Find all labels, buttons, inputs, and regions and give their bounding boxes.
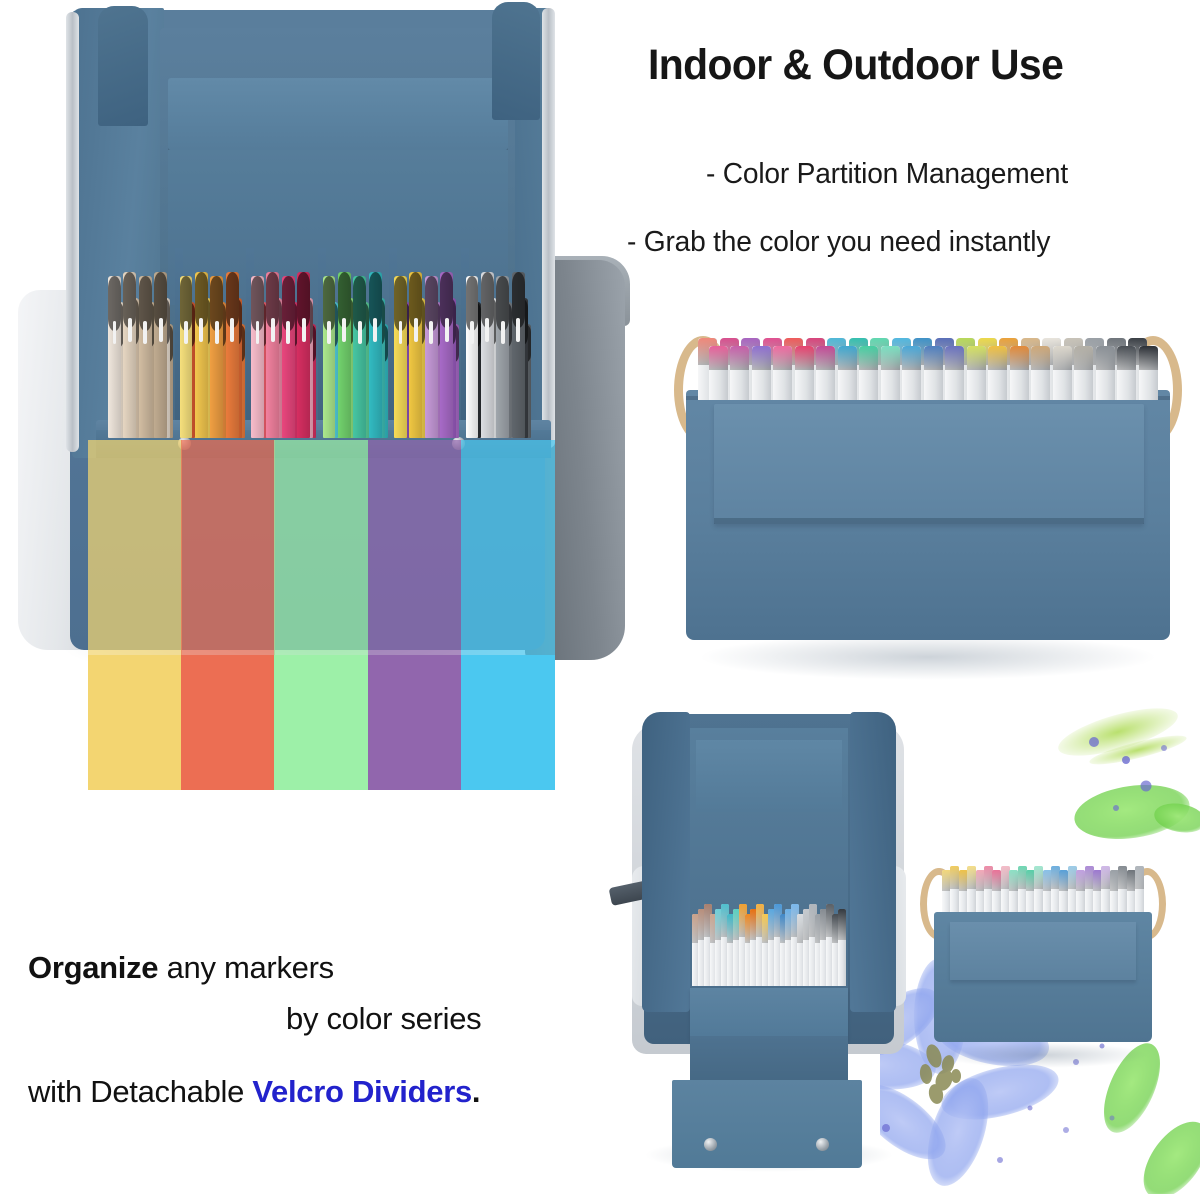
case-pocket-edge [714,518,1144,524]
divider-band-coral [181,440,275,790]
marker-pink-red [297,272,310,438]
organize-line-3-period: . [472,1074,480,1109]
marker-cap [1117,346,1136,370]
marker-warm [180,276,193,438]
marker-green [338,272,351,438]
marker-yellow-purple [440,272,453,438]
marker-cap [709,346,728,370]
marker [1074,346,1093,400]
band-overlay [368,440,462,655]
marker-cap [838,346,857,370]
marker [992,870,1001,916]
marker [773,346,792,400]
marker-cap [1076,870,1085,891]
marker [924,346,943,400]
marker-yellow-purple [409,272,422,438]
marker-cap [816,346,835,370]
marker [967,866,976,916]
organize-emphasis: Organize [28,950,158,985]
page-title: Indoor & Outdoor Use [648,43,1161,88]
zipper-pull-left [98,6,148,126]
band-solid [181,655,275,790]
feature-bullet-2: - Grab the color you need instantly [627,226,1050,259]
marker-row [698,336,1158,400]
marker-gray-black [466,276,479,438]
divider-band-purple [368,440,462,790]
marker-cap [1074,346,1093,370]
marker-label [113,321,117,344]
marker-cap [752,346,771,370]
marker [881,346,900,400]
marker [1009,870,1018,916]
marker-cap [838,909,846,940]
marker [1117,346,1136,400]
organize-line-3-prefix: with Detachable [28,1074,252,1109]
marker-label [358,321,362,344]
marker-label [302,318,306,341]
marker-pink-red [251,276,264,438]
product-photo-flat-case [668,318,1188,678]
marker [1010,346,1029,400]
marker-cap [1010,346,1029,370]
band-solid [274,655,368,790]
band-overlay [461,440,555,655]
marker [1135,866,1144,916]
marker-cap [795,346,814,370]
marker [838,909,846,986]
marker-cap [1009,870,1018,891]
marker-cap [1034,866,1043,889]
marker-label [143,321,147,344]
marker-label [445,318,449,341]
marker-cap [1096,346,1115,370]
marker-label [516,318,520,341]
marker-label [271,318,275,341]
marker-label [501,321,505,344]
marker-cap [1053,346,1072,370]
marker-gray-black [512,272,525,438]
marker-row [942,860,1144,916]
band-overlay [181,440,275,655]
organize-line-2: by color series [286,1003,628,1034]
marker-label [342,318,346,341]
organize-text-block: Organize any markers by color series wit… [28,952,628,1107]
marker-label [286,321,290,344]
marker-yellow-purple [394,276,407,438]
backpack-front-panel [690,1036,848,1084]
organize-line-3: with Detachable Velcro Dividers. [28,1076,628,1107]
marker-label [327,321,331,344]
marker-warm [210,276,223,438]
marker [752,346,771,400]
marker [945,346,964,400]
marker-yellow-purple [425,276,438,438]
case-front-pocket [714,404,1144,524]
marker-label [199,318,203,341]
marker-cap [1139,346,1158,370]
marker-cap [730,346,749,370]
drop-down-flap [672,1080,862,1168]
band-solid [88,655,182,790]
drop-shadow [698,634,1158,680]
marker [859,346,878,400]
marker-label [429,321,433,344]
marker [902,346,921,400]
marker [1096,346,1115,400]
band-overlay [88,440,182,655]
backpack-interior-pocket [696,740,842,812]
marker-label [485,318,489,341]
marker-label [184,321,188,344]
marker-tray [100,248,545,438]
backpack-front-pocket [690,988,848,1040]
divider-band-cyan [461,440,555,790]
marker [795,346,814,400]
marker-cap [1118,866,1127,889]
marker-green [369,272,382,438]
marker [1118,866,1127,916]
marker-label [414,318,418,341]
case-front-pocket [950,922,1136,980]
product-feature-image: Indoor & Outdoor Use - Color Partition M… [0,0,1200,1194]
marker-cap [773,346,792,370]
band-overlay [274,440,368,655]
marker-label [128,318,132,341]
divider-band-mint-green [274,440,368,790]
band-solid [461,655,555,790]
marker [967,346,986,400]
marker-cap [945,346,964,370]
green-brush-strokes [1054,699,1200,846]
marker [1031,346,1050,400]
marker [816,346,835,400]
product-photo-small-case [918,846,1168,1066]
marker [730,346,749,400]
flap-snap-right [816,1138,829,1151]
organize-line-1-rest: any markers [158,950,334,985]
marker-label [256,321,260,344]
velcro-dividers-highlight: Velcro Dividers [252,1074,472,1109]
divider-band-yellow [88,440,182,790]
drop-shadow [938,1042,1148,1068]
marker-neutral [154,272,167,438]
zipper-pull-right [492,2,540,120]
marker-gray-black [481,272,494,438]
marker-label [159,318,163,341]
marker [1076,870,1085,916]
marker-cap [967,346,986,370]
backpack-lid-left [642,712,690,1012]
marker-cap [859,346,878,370]
marker-green [323,276,336,438]
marker-label [399,321,403,344]
product-photo-backpack [604,706,934,1176]
marker-cap [924,346,943,370]
marker-label [230,318,234,341]
marker [838,346,857,400]
marker [1053,346,1072,400]
velcro-divider-color-bands [88,440,554,790]
marker-cap [1135,866,1144,889]
flap-snap-left [704,1138,717,1151]
marker-cap [992,870,1001,891]
marker-neutral [123,272,136,438]
marker-label [215,321,219,344]
marker-neutral [108,276,121,438]
marker [988,346,1007,400]
marker-neutral [139,276,152,438]
marker-label [373,318,377,341]
organize-line-1: Organize any markers [28,952,628,983]
marker-cap [988,346,1007,370]
marker-cap [881,346,900,370]
marker-tray [692,896,846,986]
marker-warm [226,272,239,438]
marker-label [470,321,474,344]
marker-green [353,276,366,438]
feature-bullet-1: - Color Partition Management [706,158,1068,191]
marker [1034,866,1043,916]
marker-cap [967,866,976,889]
zipper-left [66,12,79,452]
bag-interior-pocket-top [168,78,508,150]
marker-pink-red [266,272,279,438]
marker-cap [902,346,921,370]
backpack-lid-right [850,712,896,1012]
marker [1139,346,1158,400]
marker-cap [1031,346,1050,370]
marker-pink-red [282,276,295,438]
marker-warm [195,272,208,438]
marker [709,346,728,400]
band-solid [368,655,462,790]
marker-gray-black [496,276,509,438]
